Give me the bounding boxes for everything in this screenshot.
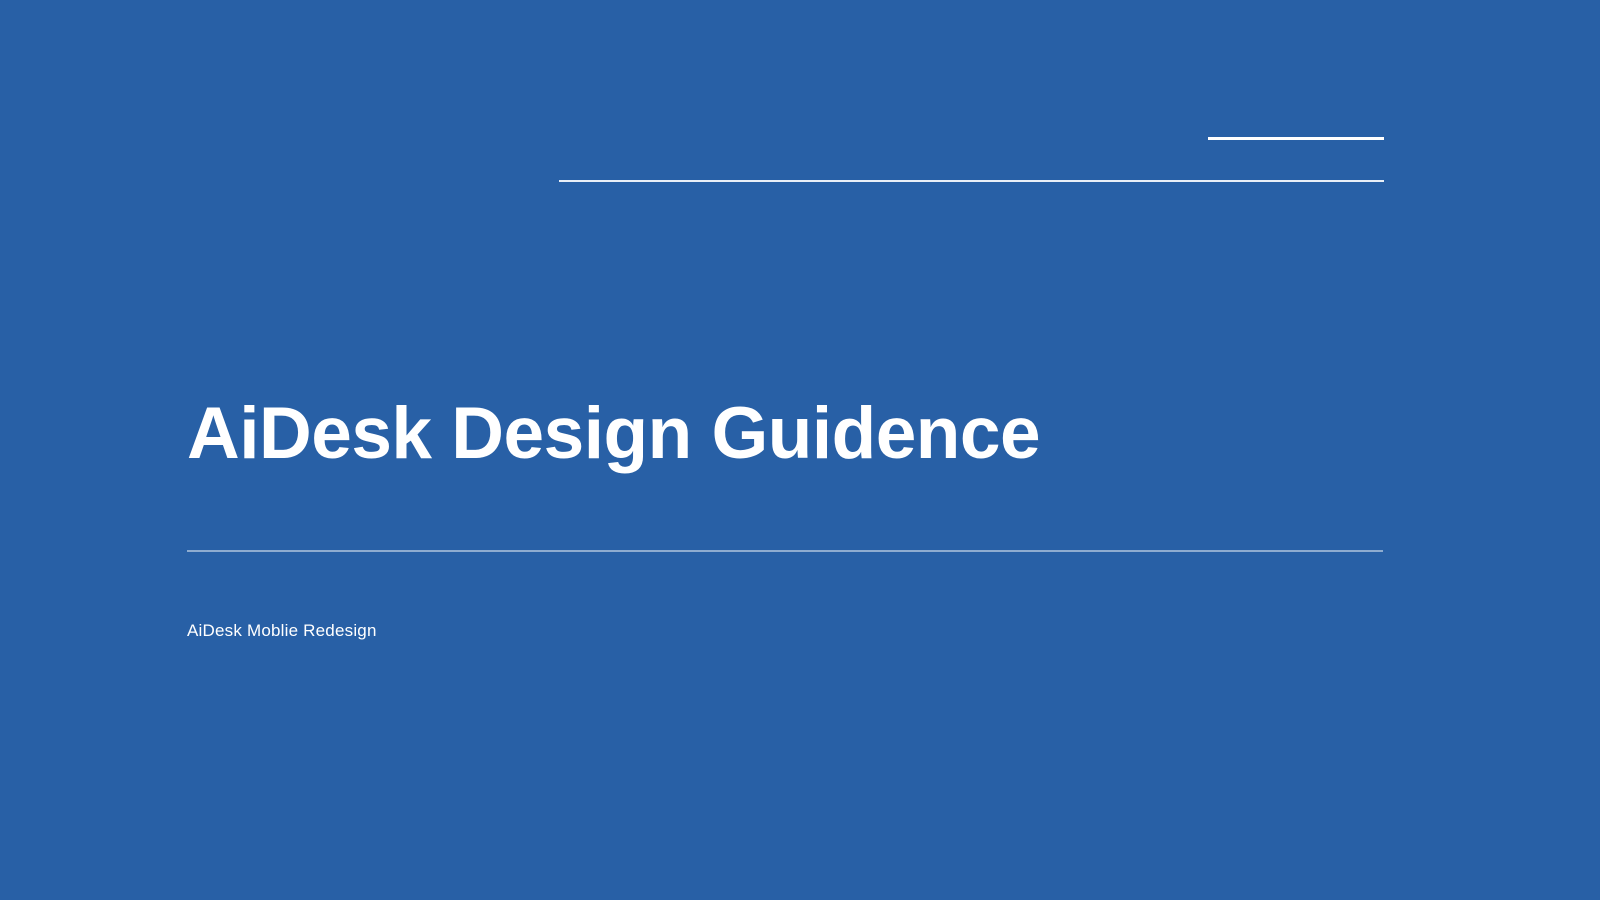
page-title: AiDesk Design Guidence	[187, 390, 1387, 478]
top-right-accent-rule	[1208, 137, 1384, 140]
page-subtitle: AiDesk Moblie Redesign	[187, 620, 377, 642]
title-divider-rule	[187, 550, 1383, 552]
top-thin-rule	[559, 180, 1384, 182]
title-block: AiDesk Design Guidence	[187, 390, 1387, 478]
title-slide: AiDesk Design Guidence AiDesk Moblie Red…	[0, 0, 1600, 900]
